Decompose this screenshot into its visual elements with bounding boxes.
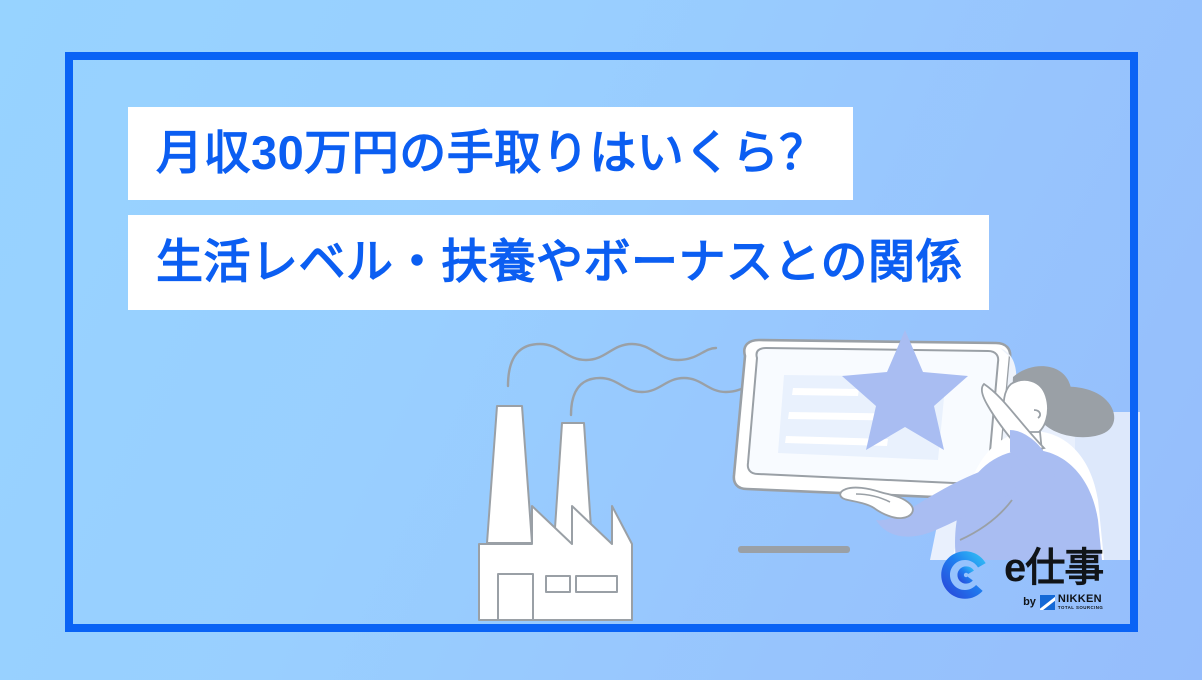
title-box-line2: 生活レベル・扶養やボーナスとの関係 (128, 215, 989, 310)
logo-wordmark: e仕事 (1004, 548, 1103, 588)
banner-canvas: 月収30万円の手取りはいくら？ 生活レベル・扶養やボーナスとの関係 e仕事 by (0, 0, 1202, 680)
nikken-badge: NIKKEN TOTAL SOURCING (1040, 594, 1103, 610)
nikken-name: NIKKEN (1058, 594, 1103, 605)
nikken-tile-icon (1040, 595, 1055, 610)
logo-parent-lockup: by NIKKEN TOTAL SOURCING (1023, 594, 1103, 610)
page-title-line2: 生活レベル・扶養やボーナスとの関係 (156, 238, 963, 285)
page-title-line1: 月収30万円の手取りはいくら？ (156, 129, 827, 176)
logo-by-label: by (1023, 596, 1036, 608)
nikken-tagline: TOTAL SOURCING (1058, 606, 1103, 610)
smoke-squiggles (508, 344, 761, 415)
brand-logo[interactable]: e仕事 by NIKKEN TOTAL SOURCING (938, 548, 1103, 610)
divider-bar (738, 546, 850, 553)
factory-illustration (479, 406, 632, 620)
title-box-line1: 月収30万円の手取りはいくら？ (128, 107, 853, 200)
e-mark-icon (938, 548, 992, 602)
